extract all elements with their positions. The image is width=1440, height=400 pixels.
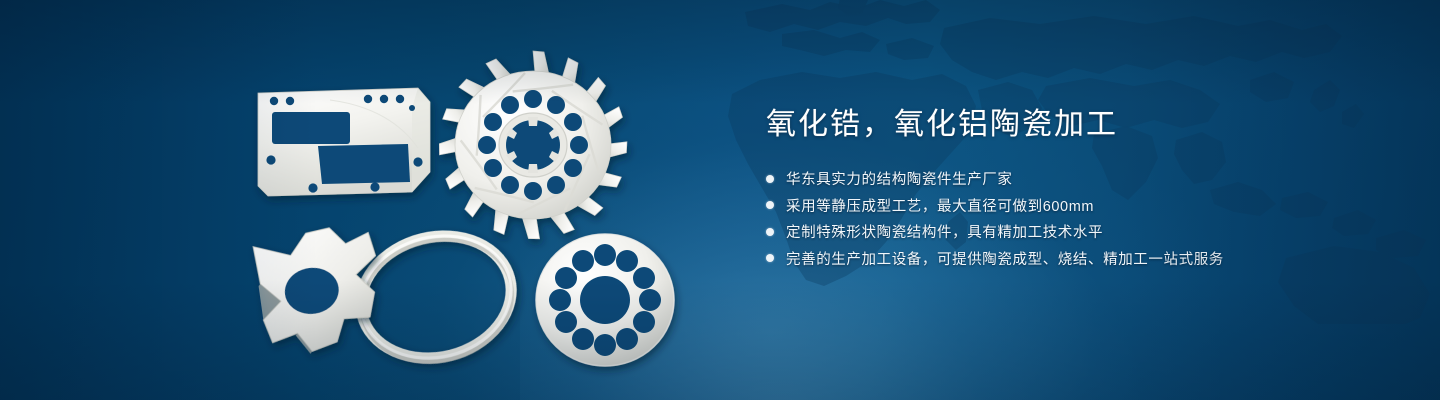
bullet-dot-icon: [766, 254, 774, 262]
list-item: 采用等静压成型工艺，最大直径可做到600mm: [766, 195, 1386, 216]
page-title: 氧化锆，氧化铝陶瓷加工: [766, 106, 1386, 144]
bullet-dot-icon: [766, 201, 774, 209]
feature-list: 华东具实力的结构陶瓷件生产厂家 采用等静压成型工艺，最大直径可做到600mm 定…: [766, 168, 1386, 269]
bullet-dot-icon: [766, 228, 774, 236]
feature-text: 采用等静压成型工艺，最大直径可做到600mm: [786, 195, 1094, 216]
banner-copy: 氧化锆，氧化铝陶瓷加工 华东具实力的结构陶瓷件生产厂家 采用等静压成型工艺，最大…: [766, 106, 1386, 274]
list-item: 定制特殊形状陶瓷结构件，具有精加工技术水平: [766, 221, 1386, 242]
hero-banner: 氧化锆，氧化铝陶瓷加工 华东具实力的结构陶瓷件生产厂家 采用等静压成型工艺，最大…: [0, 0, 1440, 400]
feature-text: 定制特殊形状陶瓷结构件，具有精加工技术水平: [786, 221, 1103, 242]
list-item: 华东具实力的结构陶瓷件生产厂家: [766, 168, 1386, 189]
bullet-dot-icon: [766, 175, 774, 183]
feature-text: 完善的生产加工设备，可提供陶瓷成型、烧结、精加工一站式服务: [786, 248, 1224, 269]
feature-text: 华东具实力的结构陶瓷件生产厂家: [786, 168, 1013, 189]
list-item: 完善的生产加工设备，可提供陶瓷成型、烧结、精加工一站式服务: [766, 248, 1386, 269]
